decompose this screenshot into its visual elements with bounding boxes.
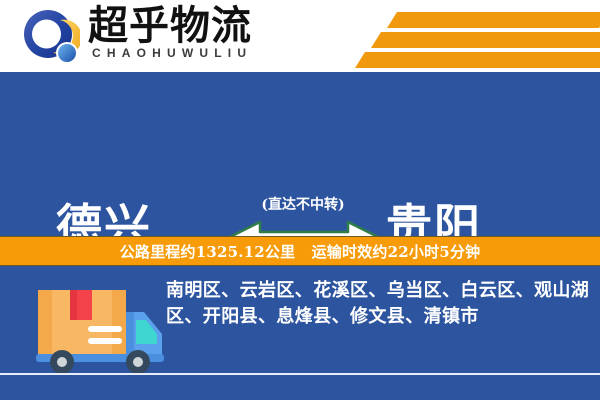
decorative-stripe-2 [371, 32, 600, 48]
coverage-areas-text: 南明区、云岩区、花溪区、乌当区、白云区、观山湖区、开阳县、息烽县、修文县、清镇市 [166, 278, 590, 330]
brand-name-cn: 超乎物流 [88, 4, 252, 48]
bottom-divider [0, 373, 600, 375]
delivery-truck-icon [26, 276, 170, 376]
route-panel: 德兴 (直达不中转) 【往返运输】 贵阳 [0, 72, 600, 236]
decorative-stripe-3 [355, 52, 600, 68]
direct-shipping-note: (直达不中转) [248, 194, 358, 214]
logistics-route-banner: 超乎物流 CHAOHUWULIU 德兴 (直达不中转) 【往返运输】 贵阳 公路… [0, 0, 600, 400]
distance-duration-text: 公路里程约1325.12公里 运输时效约22小时5分钟 [120, 241, 481, 262]
crescent-circle-logo-icon [22, 8, 80, 66]
banner-header: 超乎物流 CHAOHUWULIU [0, 0, 600, 72]
decorative-stripe-1 [387, 12, 600, 28]
brand-name-en: CHAOHUWULIU [92, 46, 252, 60]
distance-duration-bar: 公路里程约1325.12公里 运输时效约22小时5分钟 [0, 236, 600, 266]
